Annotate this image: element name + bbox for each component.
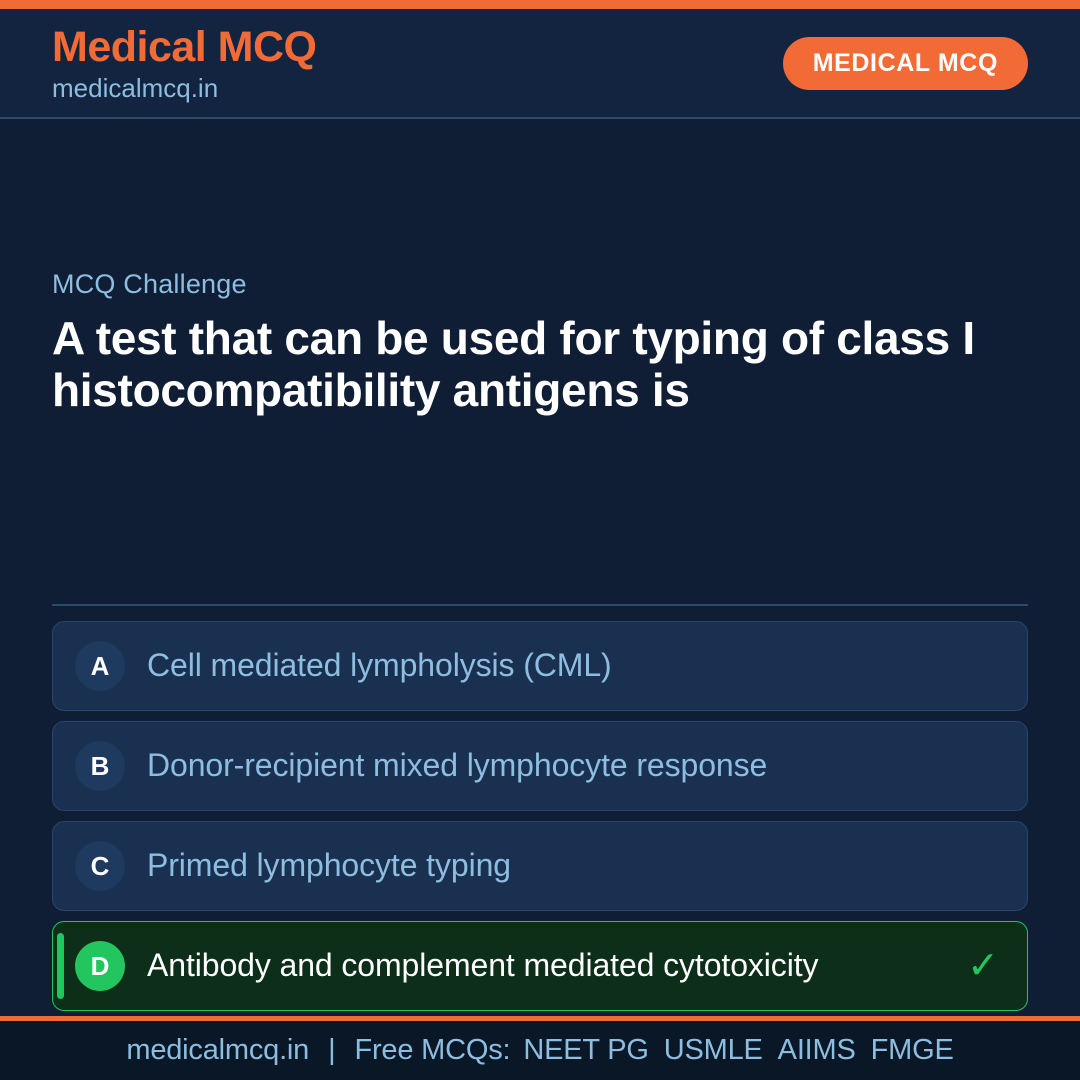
header: Medical MCQ medicalmcq.in MEDICAL MCQ xyxy=(0,9,1080,119)
footer-exam-neet-pg: NEET PG xyxy=(523,1034,648,1067)
check-icon: ✓ xyxy=(961,947,1005,985)
option-text-d: Antibody and complement mediated cytotox… xyxy=(147,948,961,984)
main-content: MCQ Challenge A test that can be used fo… xyxy=(0,119,1080,1016)
correct-accent-bar xyxy=(57,933,64,999)
question-block: MCQ Challenge A test that can be used fo… xyxy=(52,269,1028,417)
option-text-a: Cell mediated lympholysis (CML) xyxy=(147,648,961,684)
option-letter-c: C xyxy=(75,841,125,891)
question-text: A test that can be used for typing of cl… xyxy=(52,312,1028,417)
footer-exams-label: Free MCQs: xyxy=(354,1034,510,1067)
option-row-d[interactable]: D Antibody and complement mediated cytot… xyxy=(52,921,1028,1011)
footer-text: medicalmcq.in | Free MCQs: NEET PG USMLE… xyxy=(126,1034,953,1067)
brand-title: Medical MCQ xyxy=(52,26,317,69)
mcq-card: Medical MCQ medicalmcq.in MEDICAL MCQ MC… xyxy=(0,0,1080,1080)
option-letter-d: D xyxy=(75,941,125,991)
footer-site: medicalmcq.in xyxy=(126,1034,309,1067)
question-divider xyxy=(52,604,1028,606)
footer-exam-usmle: USMLE xyxy=(664,1034,763,1067)
brand-subtitle: medicalmcq.in xyxy=(52,75,317,101)
option-row-a[interactable]: A Cell mediated lympholysis (CML) ✓ xyxy=(52,621,1028,711)
option-row-b[interactable]: B Donor-recipient mixed lymphocyte respo… xyxy=(52,721,1028,811)
eyebrow-label: MCQ Challenge xyxy=(52,269,1028,300)
options-list: A Cell mediated lympholysis (CML) ✓ B Do… xyxy=(52,621,1028,1011)
footer: medicalmcq.in | Free MCQs: NEET PG USMLE… xyxy=(0,1016,1080,1080)
footer-separator: | xyxy=(322,1034,341,1067)
option-row-c[interactable]: C Primed lymphocyte typing ✓ xyxy=(52,821,1028,911)
option-letter-a: A xyxy=(75,641,125,691)
footer-exam-fmge: FMGE xyxy=(871,1034,954,1067)
header-badge: MEDICAL MCQ xyxy=(783,37,1028,90)
option-letter-b: B xyxy=(75,741,125,791)
option-text-b: Donor-recipient mixed lymphocyte respons… xyxy=(147,748,961,784)
top-accent-bar xyxy=(0,0,1080,9)
footer-exams: NEET PG USMLE AIIMS FMGE xyxy=(523,1034,953,1067)
option-text-c: Primed lymphocyte typing xyxy=(147,848,961,884)
brand: Medical MCQ medicalmcq.in xyxy=(52,26,317,101)
footer-exam-aiims: AIIMS xyxy=(778,1034,856,1067)
